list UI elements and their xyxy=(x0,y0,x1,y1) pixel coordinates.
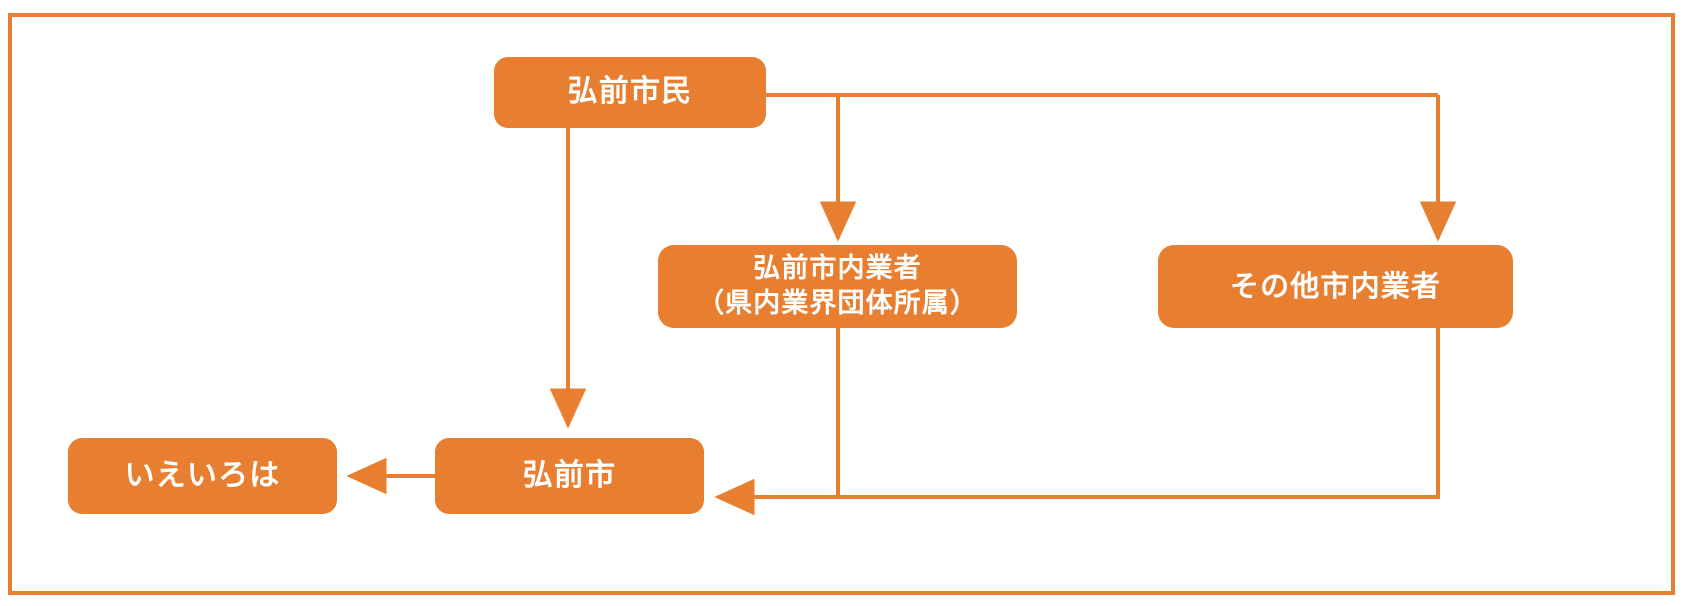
node-ieiroha-label: いえいろは xyxy=(125,457,281,495)
node-ieiroha[interactable]: いえいろは xyxy=(68,438,337,514)
node-other-vendors-label: その他市内業者 xyxy=(1230,268,1441,305)
node-other-vendors[interactable]: その他市内業者 xyxy=(1158,245,1513,328)
node-citizens-label: 弘前市民 xyxy=(568,73,693,111)
node-city[interactable]: 弘前市 xyxy=(435,438,704,514)
node-local-vendors[interactable]: 弘前市内業者 （県内業界団体所属） xyxy=(658,245,1017,328)
diagram-canvas: 弘前市民 弘前市内業者 （県内業界団体所属） その他市内業者 いえいろは 弘前市 xyxy=(0,0,1684,606)
node-local-vendors-label: 弘前市内業者 （県内業界団体所属） xyxy=(697,252,978,321)
node-citizens[interactable]: 弘前市民 xyxy=(494,57,766,128)
node-city-label: 弘前市 xyxy=(523,457,617,495)
